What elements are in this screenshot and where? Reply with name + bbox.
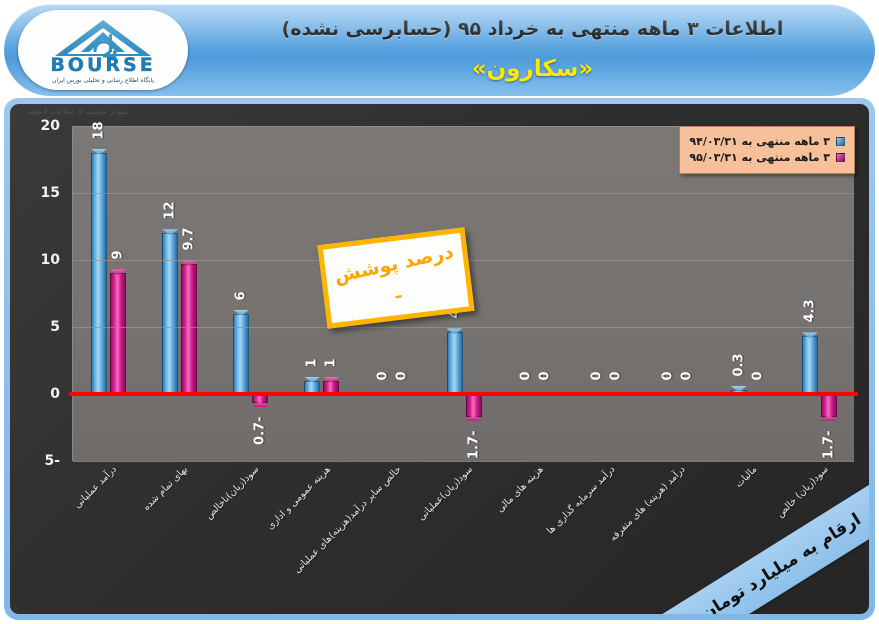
y-axis: 20151050-5 [10,126,68,461]
x-axis-category-label: هزینه عمومی و اداری [265,464,333,532]
x-axis-category-label: سود(زیان)ناخالص [204,464,262,522]
bar-value-label: 4.3 [802,300,817,323]
bar-value-label: 0 [679,371,694,380]
bar-value-label: 0 [660,371,675,380]
chart-frame: نمودار مقایسه ای اطلاعات ۳ ماهه 20151050… [4,98,875,620]
legend-swatch-blue-icon [836,137,845,146]
bar-value-label: 0 [518,371,533,380]
legend-label: ۳ ماهه منتهی به ۹۴/۰۳/۳۱ [689,135,830,148]
bar-value-label: 1 [324,358,339,367]
bar-value-label: 0 [589,371,604,380]
bar-value-label: 12 [163,202,178,220]
bar-value-label: 9 [111,251,126,260]
x-axis-category-label: درآمد عملیاتی [73,464,120,511]
x-axis-category-label: سود(زیان)عملیاتی [416,464,475,523]
x-axis-category-label: سود(زیان) خالص [774,464,830,520]
y-axis-tick-label: 10 [41,252,60,268]
logo-subtitle: پایگاه اطلاع رسانی و تحلیلی بورس ایران [52,77,154,84]
sticky-note-dash: ـ [393,282,403,303]
bar [466,394,482,417]
logo-triangle-icon [51,18,155,58]
coverage-sticky-note: درصد پوشش ـ [317,227,474,328]
bar-value-label: 0 [395,371,410,380]
y-axis-tick-label: 0 [50,386,60,402]
bar-value-label: -1.7 [821,430,836,458]
legend-swatch-magenta-icon [836,153,845,162]
bar [233,314,249,394]
y-axis-tick-label: -5 [44,453,60,469]
chart-page: BOURSE پایگاه اطلاع رسانی و تحلیلی بورس … [0,0,879,624]
bar-value-label: 6 [234,291,249,300]
zero-baseline [69,392,858,396]
page-subtitle: «سکارون» [204,56,861,84]
chart-canvas: نمودار مقایسه ای اطلاعات ۳ ماهه 20151050… [10,104,869,614]
bar-value-label: 0 [750,371,765,380]
y-axis-tick-label: 20 [41,118,60,134]
chart-legend[interactable]: ۳ ماهه منتهی به ۹۴/۰۳/۳۱ ۳ ماهه منتهی به… [679,126,855,174]
bar-value-label: 18 [92,121,107,139]
page-title: اطلاعات ۳ ماهه منتهی به خرداد ۹۵ (حسابرس… [204,18,861,41]
gridline [73,461,854,462]
gridline [73,193,854,194]
bar-value-label: -1.7 [466,430,481,458]
bar [162,233,178,394]
bar [110,273,126,394]
x-axis-category-label: درآمد سرمایه گذاری ها [544,464,617,537]
legend-item: ۳ ماهه منتهی به ۹۵/۰۳/۳۱ [689,151,845,164]
sticky-note-text: درصد پوشش [333,241,457,289]
x-axis-category-label: مالیات [733,464,759,490]
bar [91,153,107,394]
bourse24-logo[interactable]: BOURSE پایگاه اطلاع رسانی و تحلیلی بورس … [18,10,188,90]
x-axis-category-label: هزینه های مالی [495,464,546,515]
page-header: BOURSE پایگاه اطلاع رسانی و تحلیلی بورس … [4,4,875,96]
legend-item: ۳ ماهه منتهی به ۹۴/۰۳/۳۱ [689,135,845,148]
legend-label: ۳ ماهه منتهی به ۹۵/۰۳/۳۱ [689,151,830,164]
bar [447,332,463,394]
bar [181,264,197,394]
y-axis-tick-label: 15 [41,185,60,201]
bar-value-label: 0 [537,371,552,380]
bar-value-label: 0.3 [731,353,746,376]
bar-value-label: 0 [376,371,391,380]
x-axis-category-label: بهای تمام شده [141,464,190,513]
x-axis-category-label: درآمد (هزینه) های متفرقه [608,464,688,544]
y-axis-tick-label: 5 [50,319,60,335]
bar-value-label: -0.7 [253,417,268,445]
bar-value-label: 9.7 [182,227,197,250]
watermark-text: نمودار مقایسه ای اطلاعات ۳ ماهه [28,108,128,116]
bar-value-label: 1 [305,358,320,367]
bar [802,336,818,394]
gridline [73,327,854,328]
logo-wordmark: BOURSE [50,56,155,75]
bar [821,394,837,417]
bar-value-label: 0 [608,371,623,380]
